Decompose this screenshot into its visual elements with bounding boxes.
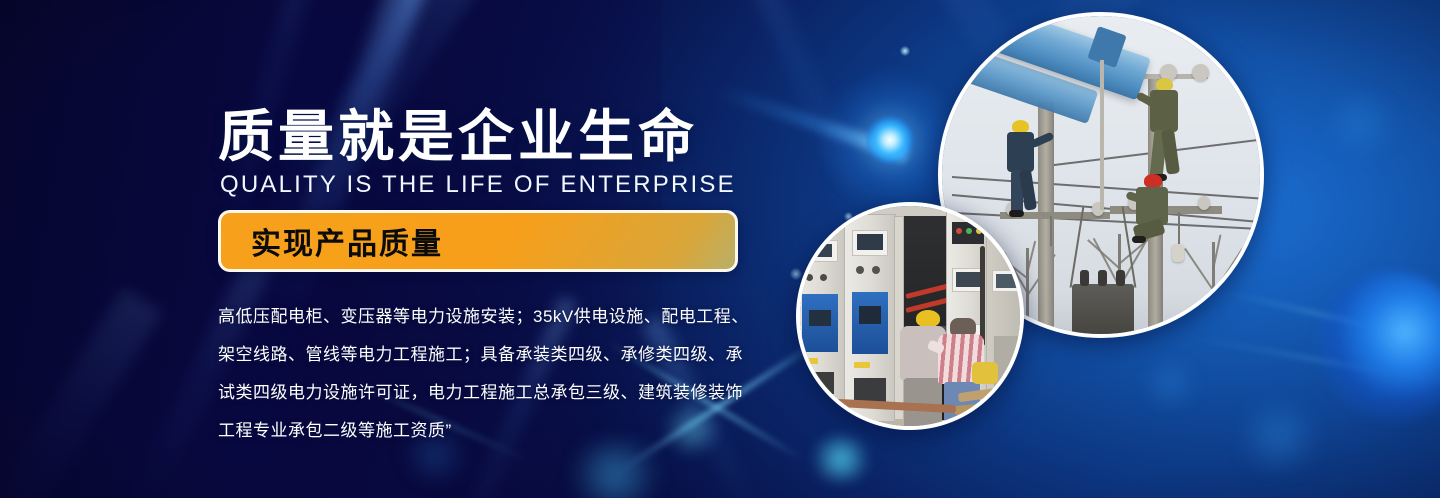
photo-scene: [800, 206, 1020, 426]
promo-banner: 质量就是企业生命 QUALITY IS THE LIFE OF ENTERPRI…: [0, 0, 1440, 498]
background-vignette: [0, 0, 1440, 498]
photo-switchgear-cabinet-installation: [796, 202, 1024, 430]
